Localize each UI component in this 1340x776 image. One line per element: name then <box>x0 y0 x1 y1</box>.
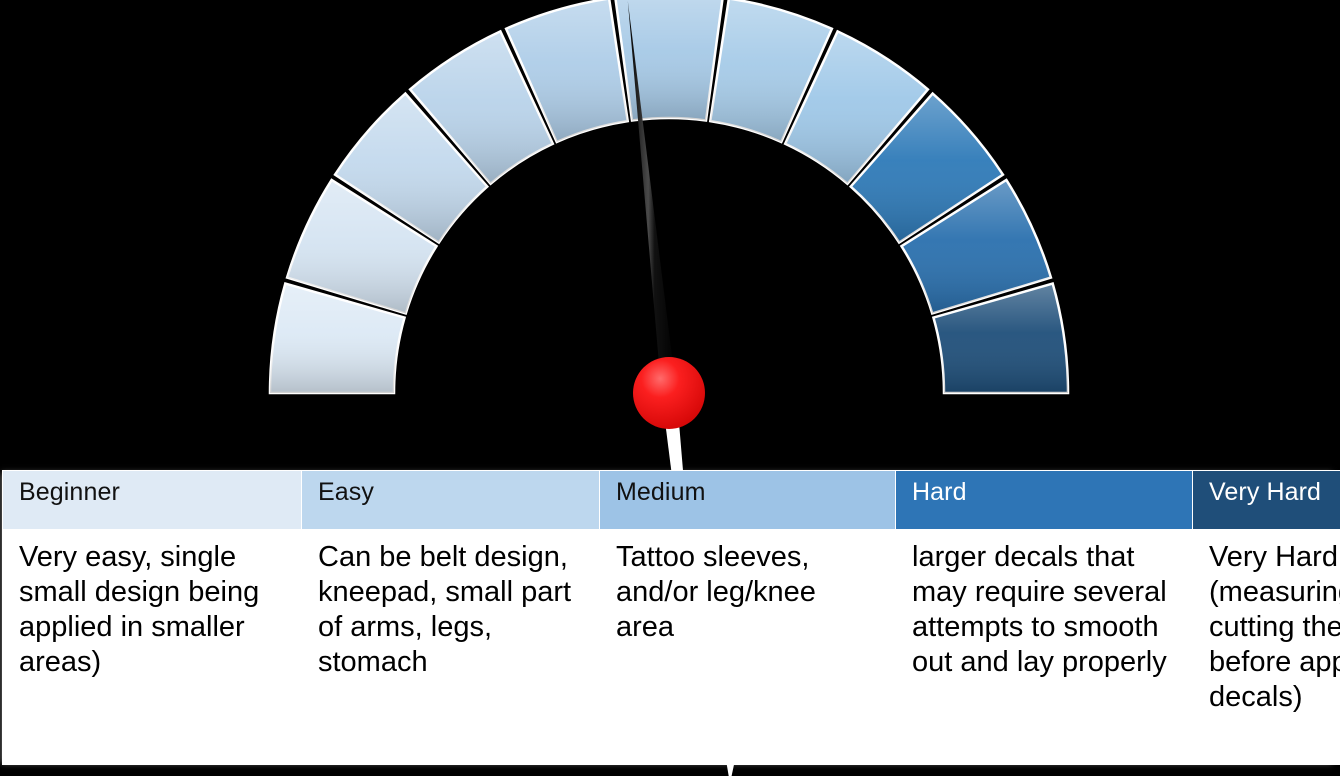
needle-hub <box>633 357 705 429</box>
column-header-medium[interactable]: Medium <box>600 471 896 530</box>
column-header-beginner[interactable]: Beginner <box>3 471 302 530</box>
difficulty-table-container: Beginner Easy Medium Hard Very Hard Very… <box>2 470 1332 760</box>
difficulty-levels-table: Beginner Easy Medium Hard Very Hard Very… <box>2 470 1340 765</box>
cell-hard-description: larger decals that may require several a… <box>896 530 1193 765</box>
gauge-svg <box>0 0 1340 470</box>
cell-very-hard-description: Very Hard (measuring and cutting the hip… <box>1193 530 1340 765</box>
cell-medium-description: Tattoo sleeves, and/or leg/knee area <box>600 530 896 765</box>
table-row: Very easy, single small design being app… <box>3 530 1340 765</box>
needle-tail-overflow <box>726 760 735 776</box>
cell-easy-description: Can be belt design, kneepad, small part … <box>302 530 600 765</box>
column-header-hard[interactable]: Hard <box>896 471 1193 530</box>
cell-beginner-description: Very easy, single small design being app… <box>3 530 302 765</box>
gauge-segment-shade-6 <box>615 0 722 121</box>
slide-canvas: Beginner Easy Medium Hard Very Hard Very… <box>0 0 1340 776</box>
column-header-easy[interactable]: Easy <box>302 471 600 530</box>
table-header-row: Beginner Easy Medium Hard Very Hard <box>3 471 1340 530</box>
column-header-very-hard[interactable]: Very Hard <box>1193 471 1340 530</box>
gauge-chart <box>0 0 1340 470</box>
